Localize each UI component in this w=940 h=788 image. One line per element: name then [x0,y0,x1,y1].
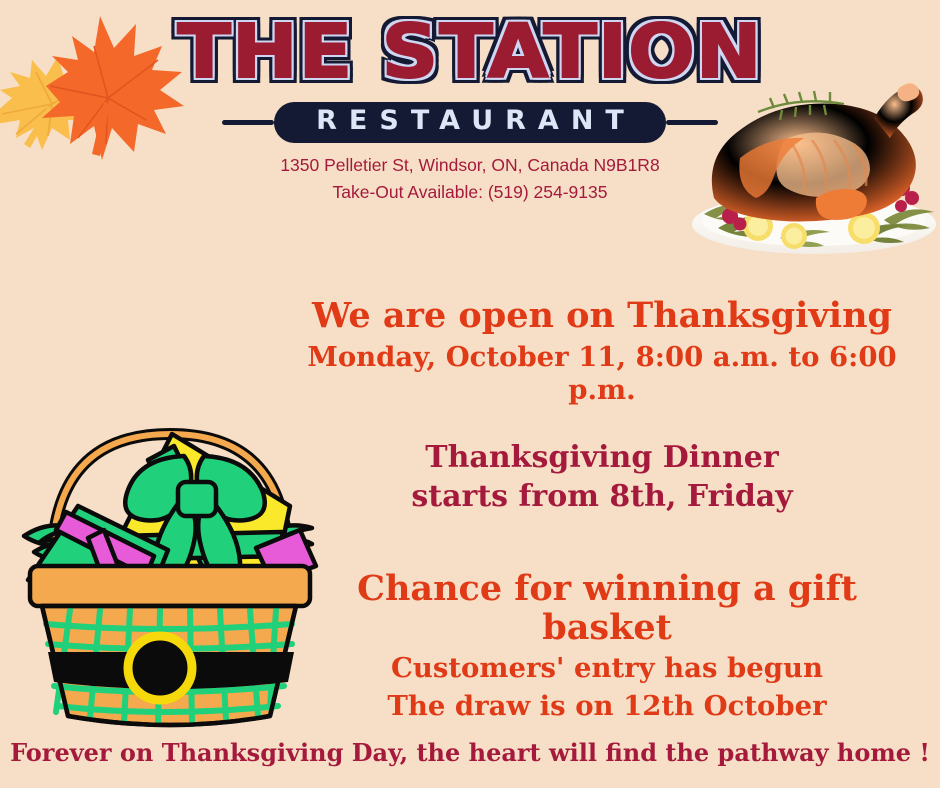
banner-dash-right [666,120,718,125]
prize-line-2: The draw is on 12th October [292,689,922,723]
gift-basket-icon [8,330,330,732]
banner-dash-left [222,120,274,125]
dinner-announcement: Thanksgiving Dinner starts from 8th, Fri… [322,438,882,516]
open-hours: Monday, October 11, 8:00 a.m. to 6:00 p.… [292,341,912,407]
restaurant-logo: THE STATION RESTAURANT 1350 Pelletier St… [0,16,940,206]
street-address: 1350 Pelletier St, Windsor, ON, Canada N… [0,152,940,179]
prize-line-1: Customers' entry has begun [292,651,922,685]
dinner-line-1: Thanksgiving Dinner [322,438,882,477]
closing-tagline: Forever on Thanksgiving Day, the heart w… [0,739,940,768]
prize-announcement: Chance for winning a gift basket Custome… [292,570,922,724]
takeout-phone[interactable]: Take-Out Available: (519) 254-9135 [0,179,940,206]
address-block: 1350 Pelletier St, Windsor, ON, Canada N… [0,152,940,206]
thanksgiving-flyer: THE STATION RESTAURANT 1350 Pelletier St… [0,0,940,788]
open-announcement: We are open on Thanksgiving Monday, Octo… [292,296,912,407]
prize-headline: Chance for winning a gift basket [292,570,922,647]
logo-banner-text: RESTAURANT [274,102,666,142]
open-headline: We are open on Thanksgiving [292,296,912,335]
logo-wordmark: THE STATION [0,16,940,89]
logo-banner-row: RESTAURANT [0,103,940,143]
dinner-line-2: starts from 8th, Friday [322,477,882,516]
